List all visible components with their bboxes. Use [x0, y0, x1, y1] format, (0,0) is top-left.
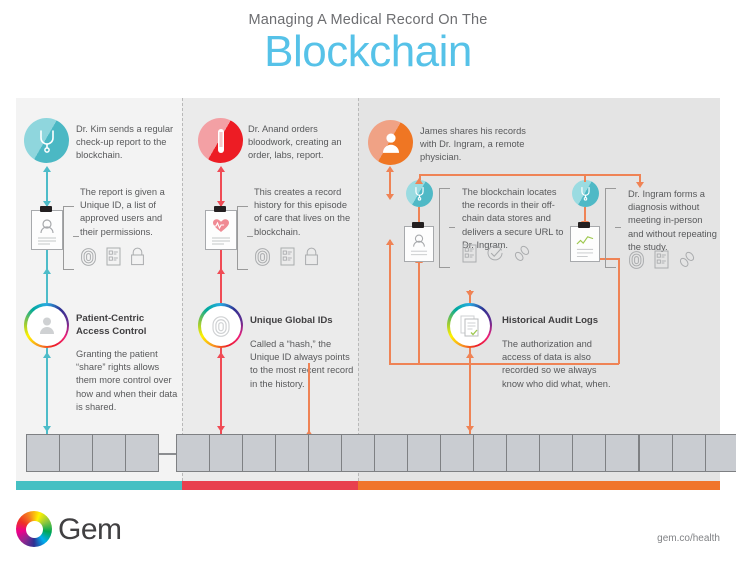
- stacked-documents-icon: [458, 314, 482, 338]
- detail-icon-row-orange-2: [628, 250, 696, 269]
- arrowhead-up-orange-return: [386, 239, 394, 245]
- heart-chart-clipboard-icon: [206, 211, 236, 249]
- blockchain-node-circle-1: [406, 180, 433, 207]
- detail-bracket-stub-orange-2: [615, 227, 621, 228]
- arrowhead-down-orange-audit: [466, 291, 474, 297]
- person-avatar-icon: [379, 131, 403, 155]
- fingerprint-icon: [80, 247, 97, 266]
- person-icon: [36, 315, 58, 337]
- accent-bar-orange: [358, 481, 720, 490]
- ledger-block: [92, 434, 126, 472]
- record-card-clip-teal: [40, 206, 52, 212]
- arrowhead-up-teal-top: [43, 166, 51, 172]
- ledger-block: [473, 434, 507, 472]
- record-card-orange-2: [570, 226, 600, 262]
- ledger-block: [639, 434, 673, 472]
- block-group: [639, 434, 736, 472]
- blood-vial-icon: [214, 128, 228, 154]
- ledger-block: [242, 434, 276, 472]
- detail-bracket-red: [237, 206, 248, 270]
- feature-circle-access-control: [24, 303, 69, 348]
- feature-circle-inner: [201, 306, 241, 346]
- id-badge-clipboard-icon: [405, 227, 433, 261]
- ledger-block: [209, 434, 243, 472]
- arrowhead-up-red-mid: [217, 268, 225, 274]
- detail-text-orange-2: Dr. Ingram forms a diagnosis without mee…: [628, 188, 720, 254]
- record-card-orange-1: [404, 226, 434, 262]
- flow-line-top-orange: [419, 174, 641, 176]
- record-card-clip-orange-2: [578, 222, 590, 228]
- ledger-block: [605, 434, 639, 472]
- arrowhead-down-orange-james: [386, 194, 394, 200]
- ledger-block: [572, 434, 606, 472]
- record-card-clip-red: [214, 206, 226, 212]
- detail-icon-row-red: [254, 247, 319, 266]
- feature-circle-audit-logs: [447, 303, 492, 348]
- page-header: Managing A Medical Record On The Blockch…: [0, 12, 736, 78]
- actor-caption-dr-anand: Dr. Anand orders bloodwork, creating an …: [248, 123, 356, 163]
- column-divider-1: [182, 98, 183, 481]
- detail-icon-row-teal: [80, 247, 145, 266]
- check-circle-icon: [486, 244, 504, 263]
- feature-circle-unique-ids: [198, 303, 243, 348]
- detail-icon-row-orange-1: [462, 244, 531, 263]
- block-group: [308, 434, 441, 472]
- stethoscope-icon: [36, 129, 58, 153]
- ledger-block: [672, 434, 706, 472]
- ledger-block: [308, 434, 342, 472]
- ledger-block: [125, 434, 159, 472]
- arrowhead-up-teal-mid: [43, 268, 51, 274]
- feature-title-unique-ids: Unique Global IDs: [250, 315, 360, 328]
- ledger-block: [275, 434, 309, 472]
- brand-name: Gem: [58, 513, 122, 547]
- arrowhead-down-orange-chain: [466, 426, 474, 432]
- ledger-block: [341, 434, 375, 472]
- accent-bar-red: [182, 481, 358, 490]
- ledger-block: [539, 434, 573, 472]
- arrowhead-up-orange-audit: [466, 352, 474, 358]
- detail-bracket-teal: [63, 206, 74, 270]
- arrowhead-up-red-top: [217, 166, 225, 172]
- ledger-block: [59, 434, 93, 472]
- flow-line-node1-return: [418, 258, 420, 363]
- actor-circle-dr-kim: [24, 118, 69, 163]
- arrowhead-up-orange-james: [386, 166, 394, 172]
- blockchain-node-circle-2: [572, 180, 599, 207]
- feature-text-audit-logs: The authorization and access of data is …: [502, 338, 618, 391]
- detail-text-teal: The report is given a Unique ID, a list …: [80, 186, 180, 239]
- ledger-block: [705, 434, 736, 472]
- feature-title-access-control: Patient-Centric Access Control: [76, 313, 176, 338]
- document-list-icon: [106, 247, 121, 266]
- detail-bracket-stub-red: [247, 236, 253, 237]
- arrowhead-up-teal-feature: [43, 352, 51, 358]
- footer-url[interactable]: gem.co/health: [657, 533, 720, 544]
- block-group: [176, 434, 309, 472]
- ledger-block: [506, 434, 540, 472]
- feature-text-unique-ids: Called a “hash,” the Unique ID always po…: [250, 338, 356, 391]
- gem-logo-center: [26, 521, 43, 538]
- chart-clipboard-icon: [571, 227, 599, 261]
- actor-caption-james: James shares his records with Dr. Ingram…: [420, 125, 536, 165]
- fingerprint-icon: [254, 247, 271, 266]
- block-group: [26, 434, 159, 472]
- flow-line-node2-return: [618, 258, 620, 364]
- ledger-block: [176, 434, 210, 472]
- id-badge-clipboard-icon: [32, 211, 62, 249]
- detail-bracket-orange-2: [605, 188, 616, 268]
- ledger-block: [26, 434, 60, 472]
- detail-bracket-orange-1: [439, 188, 450, 268]
- flow-line-node2-top: [584, 174, 586, 182]
- stethoscope-icon: [579, 186, 592, 201]
- record-card-teal: [31, 210, 63, 250]
- column-orange-background: [358, 98, 720, 481]
- padlock-icon: [304, 247, 319, 266]
- detail-text-red: This creates a record history for this e…: [254, 186, 354, 239]
- fingerprint-icon: [628, 250, 645, 269]
- block-group: [440, 434, 573, 472]
- record-card-clip-orange-1: [412, 222, 424, 228]
- arrowhead-down-teal-chain: [43, 426, 51, 432]
- document-list-icon: [462, 244, 477, 263]
- arrowhead-up-red-feature: [217, 352, 225, 358]
- document-list-icon: [654, 250, 669, 269]
- ledger-block: [440, 434, 474, 472]
- column-divider-2: [358, 98, 359, 481]
- ledger-block: [407, 434, 441, 472]
- arrowhead-down-red-chain: [217, 426, 225, 432]
- feature-circle-inner: [450, 306, 490, 346]
- actor-caption-dr-kim: Dr. Kim sends a regular check-up report …: [76, 123, 180, 163]
- actor-circle-james: [368, 120, 413, 165]
- actor-circle-dr-anand: [198, 118, 243, 163]
- feature-title-audit-logs: Historical Audit Logs: [502, 315, 632, 328]
- fingerprint-icon: [211, 315, 231, 337]
- flow-line-james-return: [389, 240, 391, 365]
- detail-text-orange-1: The blockchain locates the records in th…: [462, 186, 566, 252]
- detail-bracket-stub-teal: [73, 236, 79, 237]
- detail-bracket-stub-orange-1: [449, 227, 455, 228]
- padlock-icon: [130, 247, 145, 266]
- feature-circle-inner: [27, 306, 67, 346]
- arrowhead-up-orange-node1: [415, 178, 423, 184]
- accent-bar-teal: [16, 481, 182, 490]
- ledger-block: [374, 434, 408, 472]
- chain-link-icon: [678, 250, 696, 269]
- stethoscope-icon: [413, 186, 426, 201]
- infographic-canvas: Managing A Medical Record On The Blockch…: [0, 0, 736, 569]
- chain-connector: [158, 453, 176, 455]
- flow-line-chain-mid-orange: [308, 363, 310, 433]
- chain-link-icon: [513, 244, 531, 263]
- feature-text-access-control: Granting the patient “share” rights allo…: [76, 348, 178, 414]
- record-card-red: [205, 210, 237, 250]
- gem-logo-icon: [16, 511, 52, 547]
- page-title: Blockchain: [0, 26, 736, 78]
- document-list-icon: [280, 247, 295, 266]
